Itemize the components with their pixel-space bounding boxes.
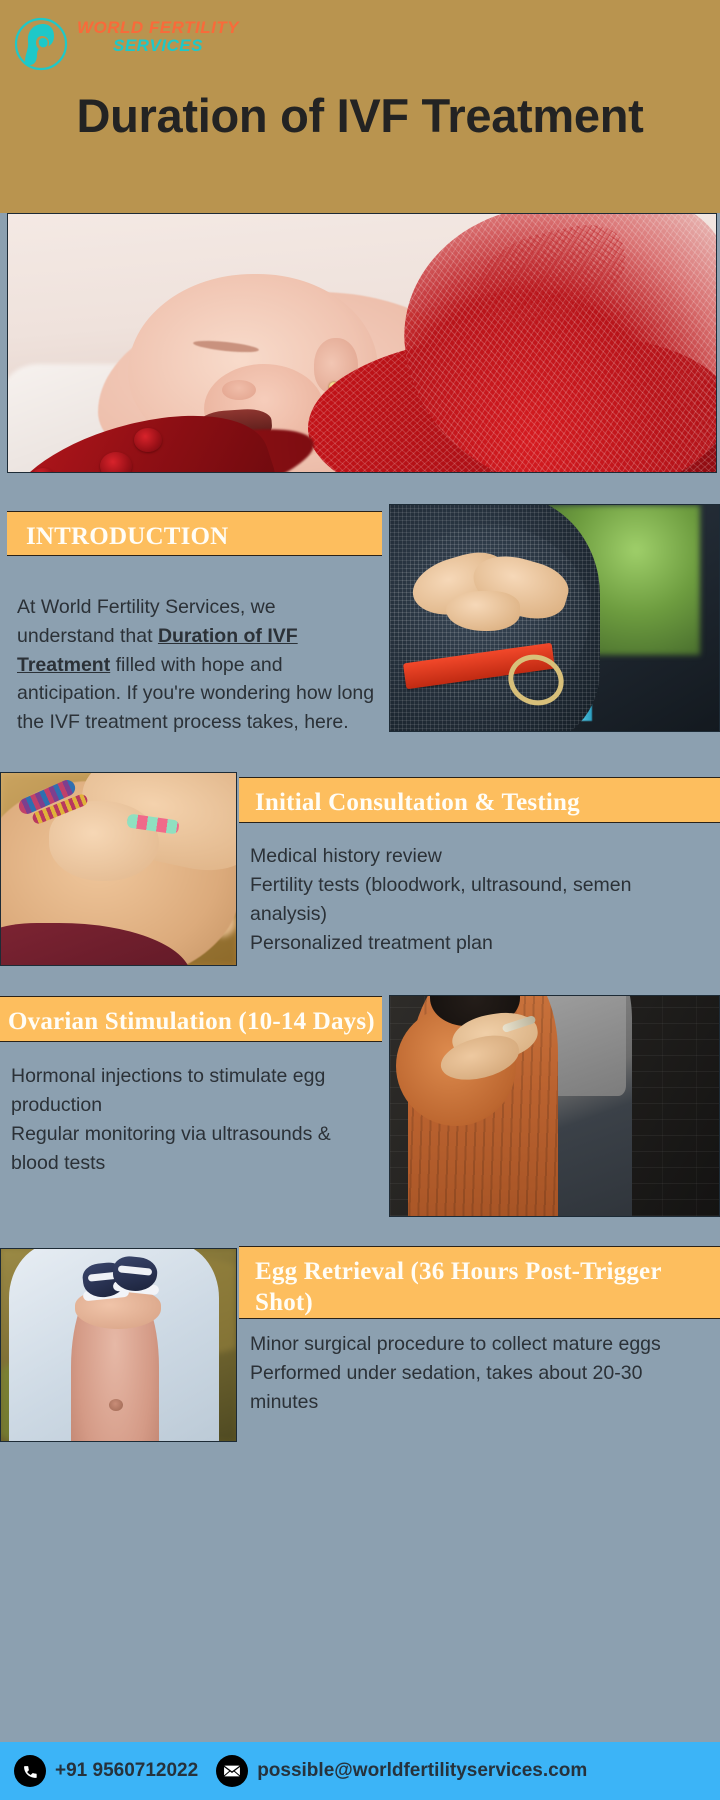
section-heading-egg-retrieval: Egg Retrieval (36 Hours Post-Trigger Sho… bbox=[239, 1247, 720, 1319]
section-image-introduction bbox=[389, 504, 720, 732]
header-banner: WORLD FERTILITY SERVICES Duration of IVF… bbox=[0, 0, 720, 213]
section-heading-band-introduction: INTRODUCTION bbox=[7, 511, 382, 556]
phone-icon bbox=[14, 1755, 46, 1787]
section-heading-ovarian-stimulation: Ovarian Stimulation (10-14 Days) bbox=[0, 997, 382, 1037]
mother-and-baby-icon bbox=[13, 16, 69, 72]
section-image-initial-consultation bbox=[0, 772, 237, 966]
infographic-page: WORLD FERTILITY SERVICES Duration of IVF… bbox=[0, 0, 720, 1800]
section-heading-introduction: INTRODUCTION bbox=[7, 512, 382, 552]
section-heading-band-egg-retrieval: Egg Retrieval (36 Hours Post-Trigger Sho… bbox=[239, 1246, 720, 1319]
section-body-egg-retrieval: Minor surgical procedure to collect matu… bbox=[250, 1330, 702, 1417]
page-title: Duration of IVF Treatment bbox=[0, 84, 720, 149]
footer-email-text: possible@worldfertilityservices.com bbox=[257, 1760, 587, 1782]
hero-image bbox=[7, 213, 717, 473]
footer-phone[interactable]: +91 9560712022 bbox=[14, 1755, 198, 1787]
logo-line-2: SERVICES bbox=[73, 37, 243, 55]
section-body-introduction: At World Fertility Services, we understa… bbox=[17, 564, 375, 737]
footer-email[interactable]: possible@worldfertilityservices.com bbox=[216, 1755, 587, 1787]
section-heading-initial-consultation: Initial Consultation & Testing bbox=[239, 778, 720, 818]
footer-contact-bar: +91 9560712022 possible@worldfertilityse… bbox=[0, 1742, 720, 1800]
section-body-ovarian-stimulation: Hormonal injections to stimulate egg pro… bbox=[11, 1062, 377, 1177]
section-heading-band-initial-consultation: Initial Consultation & Testing bbox=[239, 777, 720, 823]
footer-phone-text: +91 9560712022 bbox=[55, 1760, 198, 1782]
section-body-initial-consultation: Medical history review Fertility tests (… bbox=[250, 842, 702, 957]
brand-logo[interactable]: WORLD FERTILITY SERVICES bbox=[13, 16, 233, 74]
section-image-egg-retrieval bbox=[0, 1248, 237, 1442]
logo-line-1: WORLD FERTILITY bbox=[73, 19, 243, 37]
section-heading-band-ovarian-stimulation: Ovarian Stimulation (10-14 Days) bbox=[0, 996, 382, 1042]
section-image-ovarian-stimulation bbox=[389, 995, 720, 1217]
envelope-icon bbox=[216, 1755, 248, 1787]
